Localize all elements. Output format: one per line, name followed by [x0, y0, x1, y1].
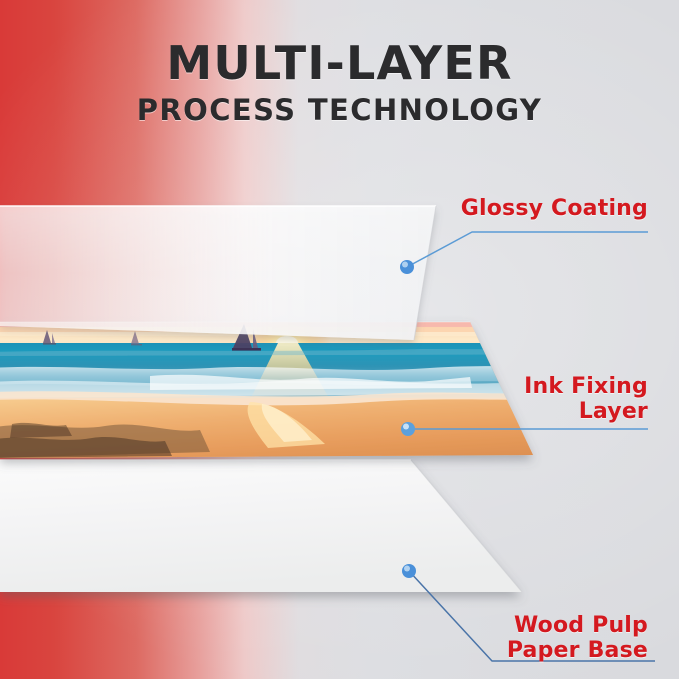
leader-dot-wood-pulp: [402, 564, 416, 578]
layer-stack: [0, 0, 679, 679]
leader-dot-glossy-coating: [400, 260, 414, 274]
callout-label-glossy-coating: Glossy Coating: [461, 196, 648, 221]
layer-wood-pulp-paper-base: [0, 460, 522, 592]
leader-line-glossy-coating: [407, 232, 648, 267]
callout-label-ink-fixing-layer: Ink Fixing Layer: [524, 374, 648, 424]
leader-dot-ink-fixing: [401, 422, 415, 436]
layer-glossy-coating: [0, 206, 436, 340]
callout-label-wood-pulp-paper-base: Wood Pulp Paper Base: [507, 613, 648, 663]
infographic-canvas: MULTI-LAYER PROCESS TECHNOLOGY: [0, 0, 679, 679]
